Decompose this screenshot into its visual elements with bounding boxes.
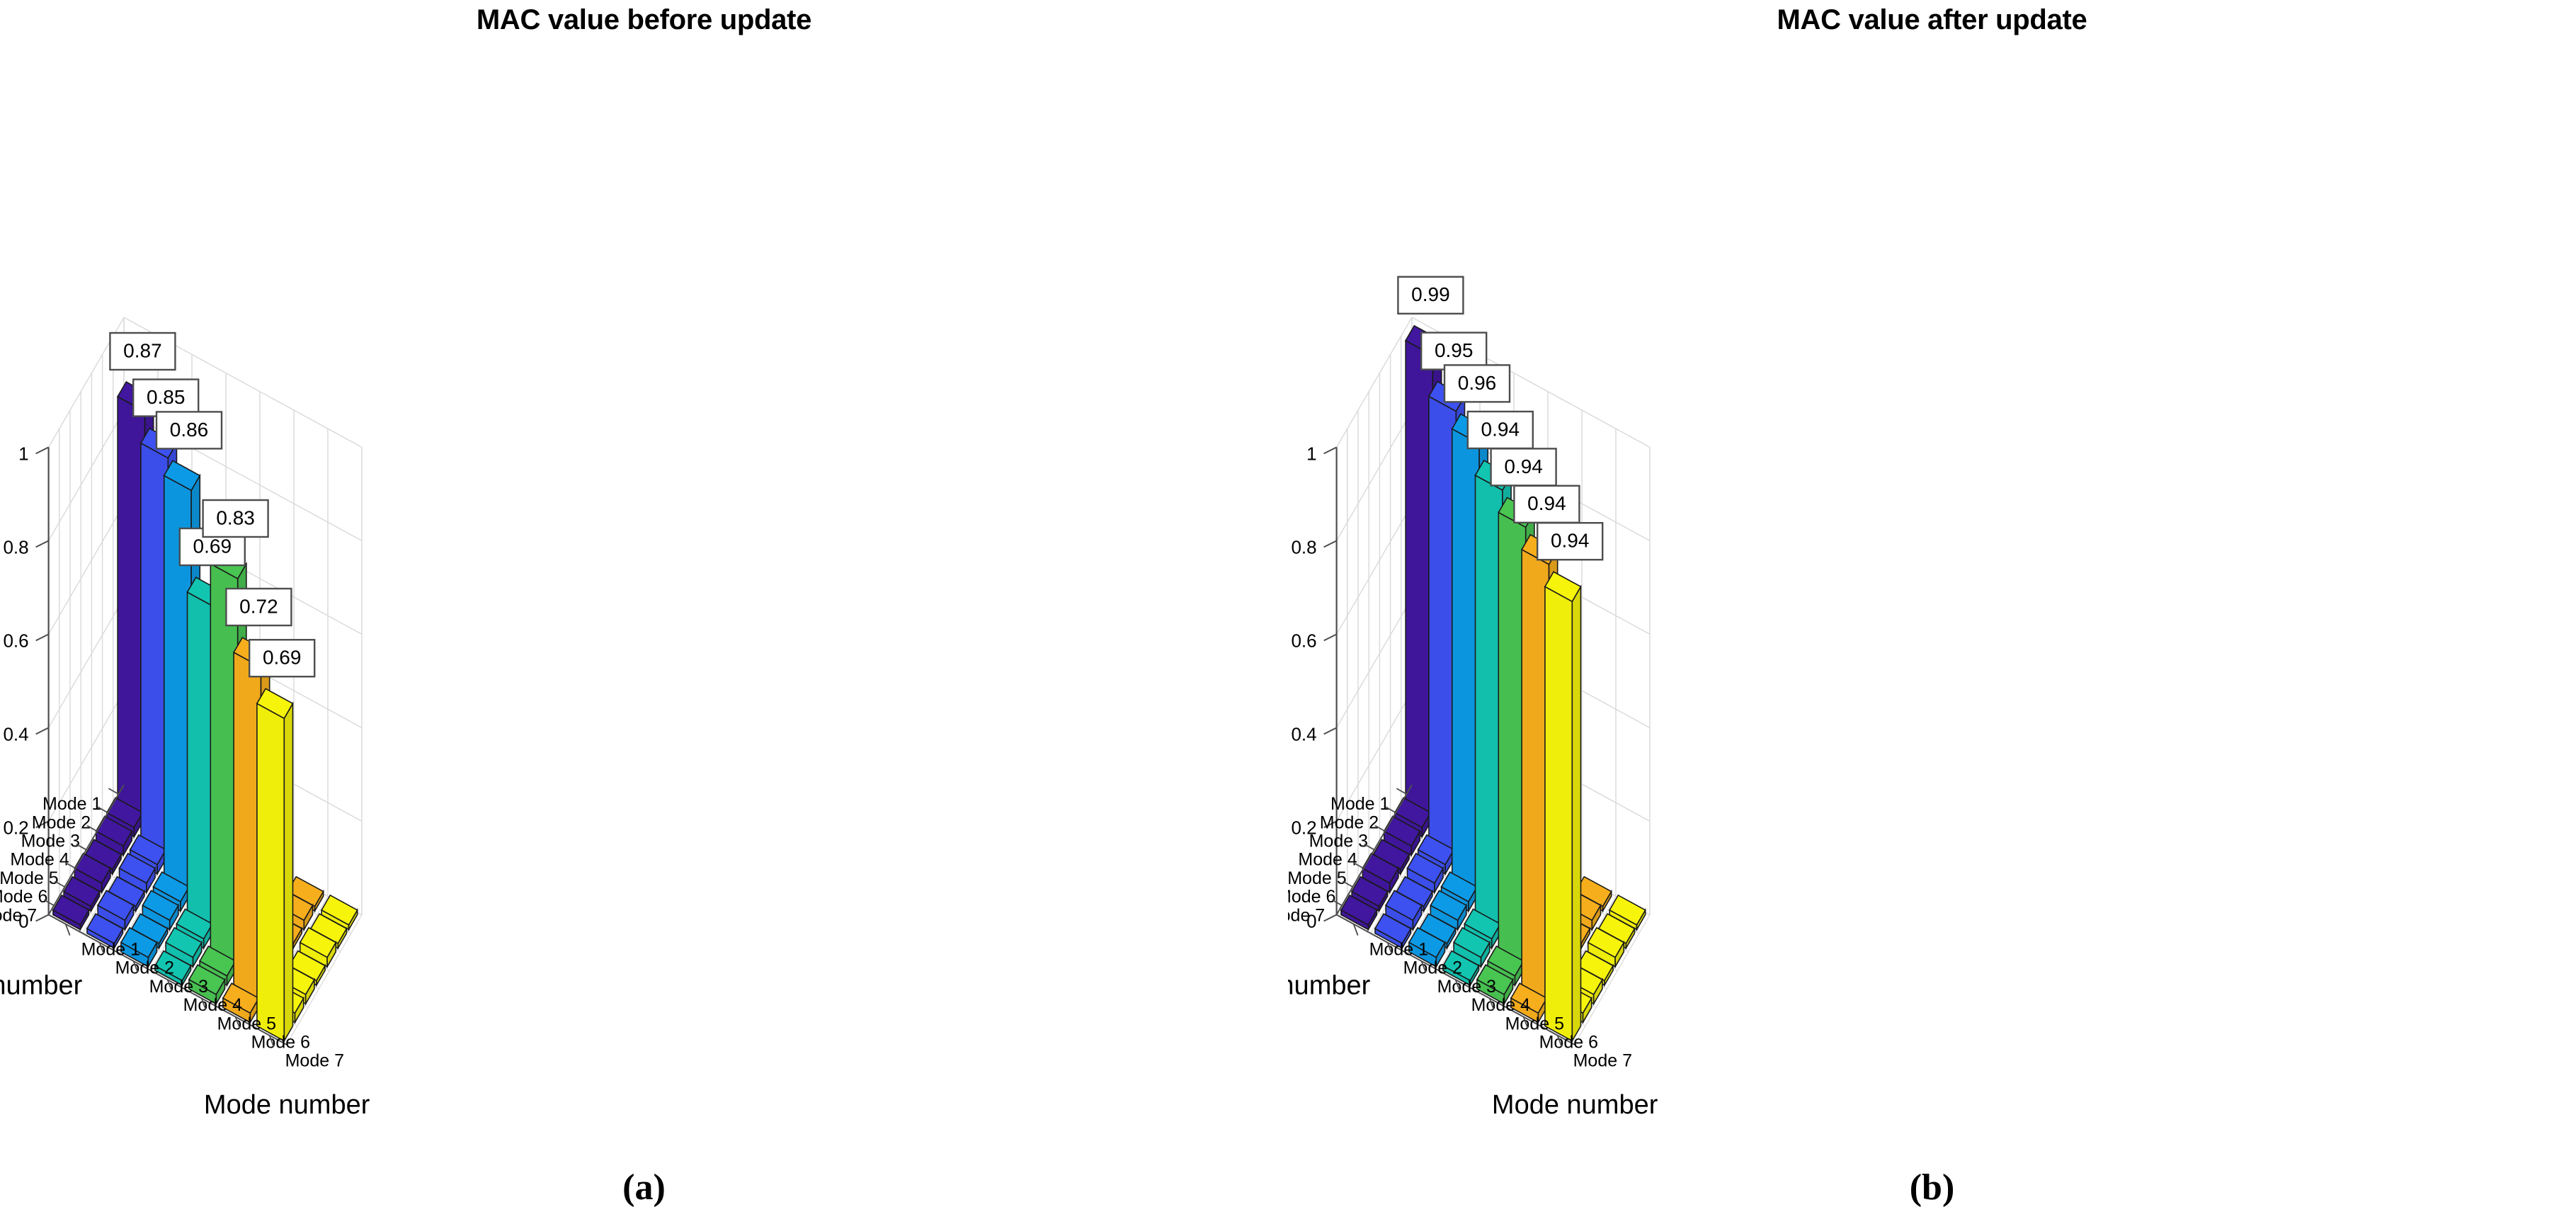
z-axis-tick-label: 0.6 bbox=[1291, 630, 1316, 651]
value-callout-text: 0.86 bbox=[170, 419, 209, 441]
value-callout-text: 0.69 bbox=[193, 535, 232, 557]
value-callout: 0.87 bbox=[110, 333, 175, 370]
value-callout: 0.72 bbox=[226, 589, 291, 625]
grid-line-horizontal bbox=[49, 504, 124, 634]
bar-face-left bbox=[1545, 586, 1572, 1041]
value-callout-text: 0.72 bbox=[239, 595, 278, 617]
z-axis-tick bbox=[36, 447, 49, 453]
panel-b: MAC value after update 10.80.60.40.20MAC… bbox=[1288, 0, 2576, 1224]
bar3-column bbox=[257, 688, 293, 1041]
x-axis-tick-label: Mode 3 bbox=[1437, 977, 1496, 997]
z-axis-tick bbox=[1324, 634, 1337, 640]
z-axis-tick-label: 0.6 bbox=[3, 630, 28, 651]
x-axis-tick-label: Mode 7 bbox=[285, 1051, 344, 1071]
y-axis-tick-label: Mode 3 bbox=[21, 832, 80, 851]
grid-line-horizontal bbox=[1337, 411, 1412, 540]
grid-line-horizontal bbox=[1337, 504, 1412, 634]
y-axis-tick-label: Mode 5 bbox=[1288, 868, 1347, 888]
y-axis-tick-label: Mode 3 bbox=[1309, 832, 1368, 851]
z-axis-tick-label: 0.8 bbox=[1291, 536, 1316, 557]
value-callout-text: 0.96 bbox=[1458, 372, 1497, 394]
z-axis-tick-label: 0.4 bbox=[1291, 723, 1316, 744]
y-axis-tick-label: Mode 1 bbox=[42, 794, 101, 814]
value-callout-text: 0.85 bbox=[147, 386, 186, 408]
value-callout-text: 0.99 bbox=[1411, 283, 1450, 305]
value-callout: 0.85 bbox=[133, 380, 198, 416]
grid-line-horizontal bbox=[1337, 317, 1412, 447]
value-callout: 0.69 bbox=[249, 640, 314, 676]
x-axis-tick-label: Mode 3 bbox=[149, 977, 208, 997]
plot-canvas-b: 10.80.60.40.20MACMode 1Mode 2Mode 3Mode … bbox=[1288, 0, 2576, 1224]
grid-line-horizontal bbox=[1337, 598, 1412, 727]
x-axis-tick-label: Mode 5 bbox=[1505, 1014, 1564, 1033]
value-callout: 0.94 bbox=[1537, 523, 1602, 560]
value-callout: 0.96 bbox=[1444, 365, 1510, 402]
x-axis-tick-label: Mode 1 bbox=[81, 940, 140, 960]
y-axis-tick-label: Mode 7 bbox=[1288, 905, 1325, 925]
y-axis-tick-label: Mode 2 bbox=[1320, 812, 1379, 832]
bar3-column bbox=[1545, 572, 1581, 1041]
bar-face-right bbox=[284, 703, 292, 1041]
x-axis-tick-label: Mode 2 bbox=[115, 958, 174, 978]
panel-a: MAC value before update 10.80.60.40.20MA… bbox=[0, 0, 1288, 1224]
x-axis-tick-label: Mode 1 bbox=[1369, 940, 1428, 960]
y-axis-tick-label: Mode 1 bbox=[1330, 794, 1389, 814]
x-axis-tick-label: Mode 6 bbox=[1539, 1033, 1598, 1053]
value-callout: 0.86 bbox=[156, 412, 222, 448]
value-callout: 0.94 bbox=[1514, 486, 1579, 523]
figure-root: MAC value before update 10.80.60.40.20MA… bbox=[0, 0, 2576, 1224]
z-axis-tick-label: 1 bbox=[1306, 443, 1316, 464]
value-callout-text: 0.94 bbox=[1481, 418, 1520, 440]
value-callout: 0.94 bbox=[1491, 448, 1556, 485]
z-axis-tick-label: 1 bbox=[18, 443, 28, 464]
value-callout-text: 0.87 bbox=[123, 339, 162, 361]
z-axis-tick bbox=[1324, 727, 1337, 734]
x-axis-title: Mode number bbox=[1492, 1090, 1658, 1120]
x-axis-title: Mode number bbox=[204, 1090, 370, 1120]
plot-canvas-a: 10.80.60.40.20MACMode 1Mode 2Mode 3Mode … bbox=[0, 0, 1288, 1224]
x-axis-tick-label: Mode 5 bbox=[217, 1014, 276, 1033]
z-axis-tick bbox=[1324, 447, 1337, 453]
bar3-chart-b: 10.80.60.40.20MACMode 1Mode 2Mode 3Mode … bbox=[1288, 0, 2576, 1224]
value-callout-text: 0.94 bbox=[1527, 492, 1566, 514]
z-axis-tick bbox=[36, 634, 49, 640]
value-callout-text: 0.94 bbox=[1504, 455, 1543, 477]
panel-label-a: (a) bbox=[0, 1167, 1288, 1208]
value-callout: 0.99 bbox=[1398, 277, 1463, 314]
x-axis-tick-label: Mode 2 bbox=[1403, 958, 1462, 978]
z-axis-tick-label: 0.4 bbox=[3, 723, 28, 744]
value-callout: 0.95 bbox=[1421, 333, 1486, 370]
y-axis-title: Mode number bbox=[1288, 971, 1371, 1001]
panel-label-b: (b) bbox=[1288, 1167, 2576, 1208]
x-axis-tick-label: Mode 6 bbox=[251, 1033, 310, 1053]
grid-line-horizontal bbox=[49, 598, 124, 727]
y-axis-title: Mode number bbox=[0, 971, 83, 1001]
y-axis-tick-label: Mode 7 bbox=[0, 905, 37, 925]
y-axis-tick-label: Mode 6 bbox=[0, 887, 47, 907]
y-axis-tick-label: Mode 5 bbox=[0, 868, 59, 888]
x-axis-tick-label: Mode 4 bbox=[183, 995, 242, 1015]
bar3-chart-a: 10.80.60.40.20MACMode 1Mode 2Mode 3Mode … bbox=[0, 0, 1288, 1224]
z-axis-tick bbox=[1324, 540, 1337, 547]
x-axis-tick-label: Mode 4 bbox=[1471, 995, 1530, 1015]
grid-line-horizontal bbox=[49, 411, 124, 540]
z-axis-tick bbox=[36, 727, 49, 734]
value-callout-text: 0.95 bbox=[1435, 339, 1474, 361]
z-axis-tick-label: 0.8 bbox=[3, 536, 28, 557]
x-axis-tick-label: Mode 7 bbox=[1573, 1051, 1632, 1071]
z-axis-tick bbox=[36, 914, 49, 921]
value-callout: 0.94 bbox=[1468, 412, 1533, 448]
value-callout-text: 0.83 bbox=[216, 506, 255, 528]
value-callout-text: 0.94 bbox=[1551, 530, 1590, 552]
z-axis-tick bbox=[36, 540, 49, 547]
bar-face-left bbox=[257, 703, 284, 1041]
z-axis-tick bbox=[1324, 914, 1337, 921]
y-axis-tick-label: Mode 2 bbox=[32, 812, 91, 832]
y-axis-tick-label: Mode 4 bbox=[1298, 850, 1357, 870]
value-callout-text: 0.69 bbox=[263, 647, 302, 669]
y-axis-tick-label: Mode 4 bbox=[10, 850, 69, 870]
bar-face-right bbox=[1572, 586, 1580, 1041]
value-callout: 0.83 bbox=[203, 500, 268, 537]
y-axis-tick-label: Mode 6 bbox=[1288, 887, 1335, 907]
